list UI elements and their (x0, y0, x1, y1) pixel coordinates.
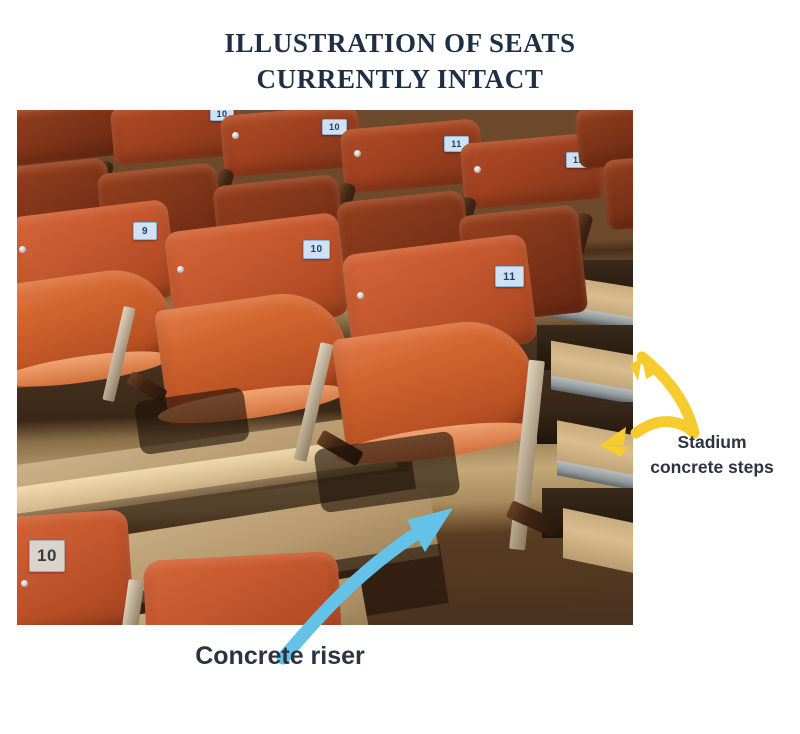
page-title-line-2: CURRENTLY INTACT (0, 62, 800, 98)
seat-bolt (357, 292, 364, 299)
seat-bolt (232, 132, 239, 139)
stadium-steps-label-line-1: Stadium (627, 430, 797, 455)
seat-bolt (19, 246, 26, 253)
seat-bolt (474, 166, 481, 173)
page-title: ILLUSTRATION OF SEATS CURRENTLY INTACT (0, 26, 800, 98)
photo-canvas: 10 10 11 12 (17, 110, 633, 625)
stadium-steps-label-line-2: concrete steps (627, 455, 797, 480)
seat-number-plaque: 10 (303, 240, 330, 259)
concrete-riser-label: Concrete riser (150, 642, 410, 671)
seat-far-background (602, 156, 633, 231)
seat-bolt (354, 150, 361, 157)
seat-number-plaque: 11 (495, 266, 524, 287)
seat-bolt (21, 580, 28, 587)
page-title-line-1: ILLUSTRATION OF SEATS (0, 26, 800, 62)
seat-number-plaque: 9 (133, 222, 157, 240)
seat-back-panel (143, 551, 343, 625)
seat-bolt (177, 266, 184, 273)
seat-number-plaque: 10 (29, 540, 65, 572)
stadium-seating-photo: 10 10 11 12 (17, 110, 633, 625)
stadium-steps-label: Stadium concrete steps (627, 430, 797, 481)
